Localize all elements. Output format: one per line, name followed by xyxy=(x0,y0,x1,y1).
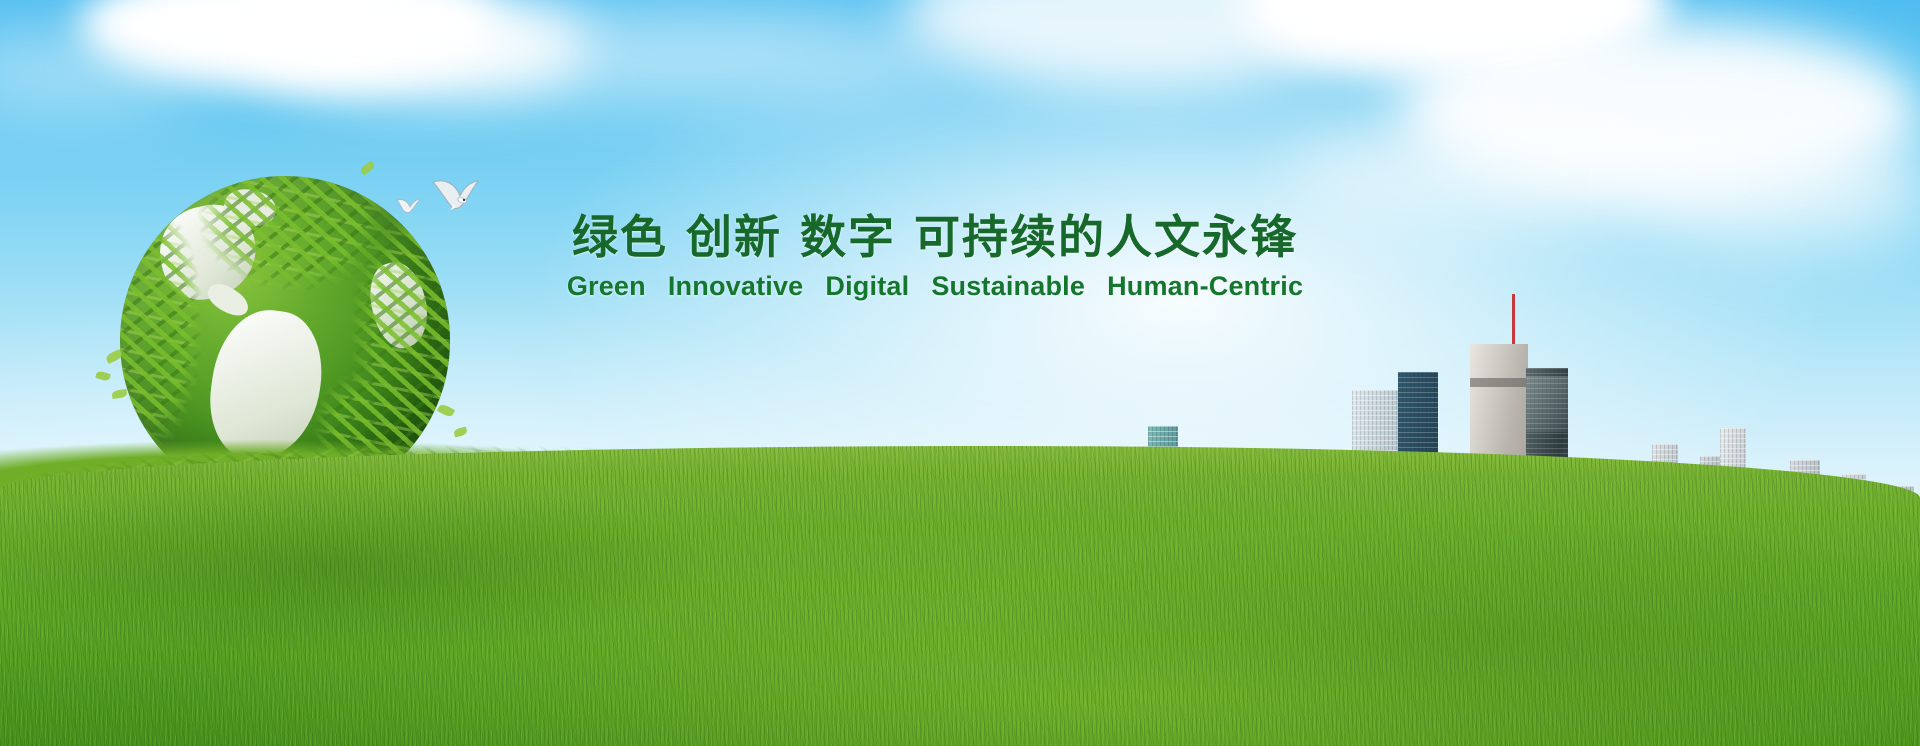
headline-part-3: 数字 xyxy=(800,211,896,263)
cloud-icon xyxy=(430,10,950,100)
headline-part-4: 可持续的人文永锋 xyxy=(914,211,1298,263)
headline-part-1: 绿色 xyxy=(572,211,668,263)
grass-shading xyxy=(0,446,1920,746)
page-subtitle: GreenInnovativeDigitalSustainableHuman-C… xyxy=(555,271,1315,302)
subtitle-word-sustainable: Sustainable xyxy=(931,271,1085,302)
hero-banner: 绿色创新数字可持续的人文永锋 GreenInnovativeDigitalSus… xyxy=(0,0,1920,746)
subtitle-word-green: Green xyxy=(567,271,646,302)
cloud-icon xyxy=(1280,120,1700,230)
headline-part-2: 创新 xyxy=(686,211,782,263)
subtitle-word-innovative: Innovative xyxy=(668,271,804,302)
page-title: 绿色创新数字可持续的人文永锋 xyxy=(555,210,1315,264)
subtitle-word-human-centric: Human-Centric xyxy=(1107,271,1303,302)
leaf-sprig xyxy=(112,389,128,399)
antenna xyxy=(1512,294,1515,346)
subtitle-word-digital: Digital xyxy=(825,271,909,302)
banner-copy: 绿色创新数字可持续的人文永锋 GreenInnovativeDigitalSus… xyxy=(555,210,1315,302)
cloud-icon xyxy=(1640,130,1920,250)
